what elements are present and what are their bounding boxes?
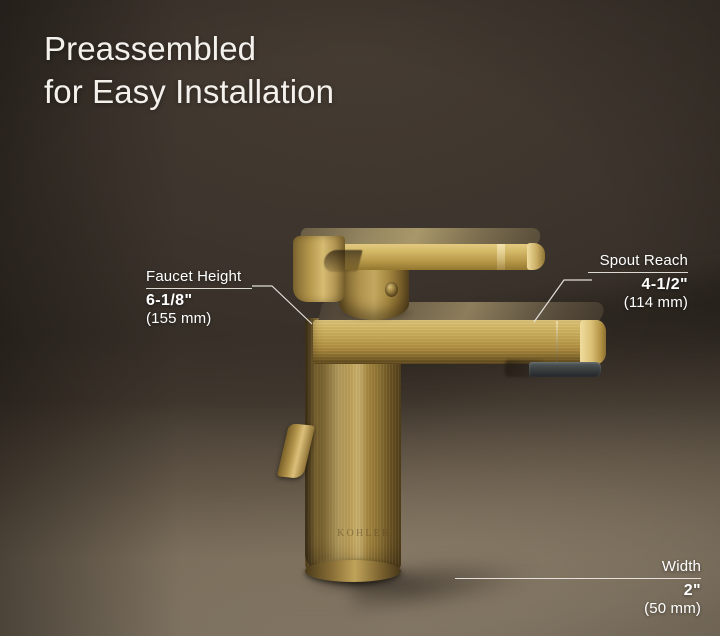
callout-value: 2"	[455, 582, 701, 600]
spout-brushed-texture	[313, 320, 605, 364]
callout-width: Width 2" (50 mm)	[455, 558, 701, 617]
faucet-base-rim	[305, 560, 401, 582]
spout-front-face	[313, 320, 605, 364]
callout-title: Spout Reach	[588, 252, 688, 269]
callout-metric: (114 mm)	[588, 294, 688, 311]
aerator	[529, 362, 601, 377]
spout-seam	[556, 321, 558, 364]
kohler-brand-mark: KOHLER	[336, 528, 392, 541]
callout-faucet-height: Faucet Height 6-1/8" (155 mm)	[146, 268, 252, 327]
callout-rule	[588, 272, 688, 273]
lever-handle-undercut	[321, 250, 362, 272]
set-screw-icon	[385, 282, 398, 297]
callout-metric: (155 mm)	[146, 310, 252, 327]
callout-value: 4-1/2"	[588, 276, 688, 294]
callout-rule	[146, 288, 252, 289]
spout-end-cap	[580, 320, 606, 365]
product-infographic: KOHLER Preassembled for Easy Installatio…	[0, 0, 720, 636]
body-specular-highlight	[352, 330, 366, 560]
callout-metric: (50 mm)	[455, 600, 701, 617]
callout-value: 6-1/8"	[146, 292, 252, 310]
lever-edge-highlight	[497, 244, 505, 270]
callout-title: Width	[455, 558, 701, 575]
callout-spout-reach: Spout Reach 4-1/2" (114 mm)	[588, 252, 688, 311]
lever-handle-end-cap	[527, 243, 545, 270]
callout-title: Faucet Height	[146, 268, 252, 285]
headline: Preassembled for Easy Installation	[44, 28, 334, 114]
callout-rule	[455, 578, 701, 579]
